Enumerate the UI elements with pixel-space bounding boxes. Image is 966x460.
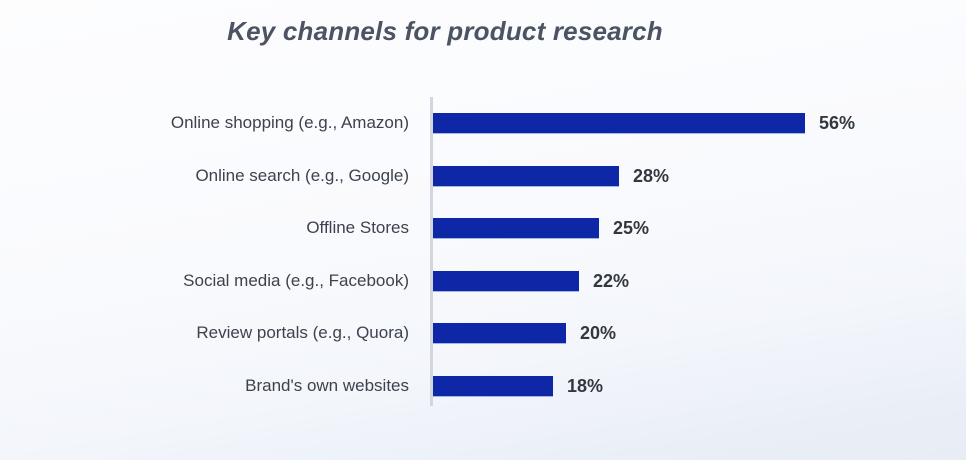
bar-row: Online search (e.g., Google)28% bbox=[0, 166, 966, 186]
bar-track bbox=[433, 376, 553, 396]
bar-category-label: Offline Stores bbox=[0, 216, 409, 240]
bar-category-label: Review portals (e.g., Quora) bbox=[0, 321, 409, 345]
bar-fill[interactable] bbox=[433, 113, 805, 133]
bar-value-label: 18% bbox=[567, 374, 603, 398]
plot-area: Online shopping (e.g., Amazon)56%Online … bbox=[0, 97, 966, 407]
bar-row: Offline Stores25% bbox=[0, 218, 966, 238]
bar-value-label: 25% bbox=[613, 216, 649, 240]
bar-value-label: 22% bbox=[593, 269, 629, 293]
bar-category-label: Brand's own websites bbox=[0, 374, 409, 398]
bar-row: Social media (e.g., Facebook)22% bbox=[0, 271, 966, 291]
bar-category-label: Online shopping (e.g., Amazon) bbox=[0, 111, 409, 135]
category-axis-line bbox=[430, 97, 433, 406]
bar-fill[interactable] bbox=[433, 376, 553, 396]
bar-value-label: 28% bbox=[633, 164, 669, 188]
bar-track bbox=[433, 271, 579, 291]
bar-fill[interactable] bbox=[433, 271, 579, 291]
bar-track bbox=[433, 218, 599, 238]
bar-row: Review portals (e.g., Quora)20% bbox=[0, 323, 966, 343]
bar-track bbox=[433, 166, 619, 186]
bar-category-label: Social media (e.g., Facebook) bbox=[0, 269, 409, 293]
bar-fill[interactable] bbox=[433, 218, 599, 238]
bar-value-label: 56% bbox=[819, 111, 855, 135]
bar-track bbox=[433, 113, 805, 133]
bar-track bbox=[433, 323, 566, 343]
bar-category-label: Online search (e.g., Google) bbox=[0, 164, 409, 188]
bar-fill[interactable] bbox=[433, 323, 566, 343]
bar-row: Brand's own websites18% bbox=[0, 376, 966, 396]
bar-fill[interactable] bbox=[433, 166, 619, 186]
bar-chart: Key channels for product research Online… bbox=[0, 0, 966, 460]
chart-title: Key channels for product research bbox=[0, 16, 890, 47]
bar-value-label: 20% bbox=[580, 321, 616, 345]
bar-row: Online shopping (e.g., Amazon)56% bbox=[0, 113, 966, 133]
